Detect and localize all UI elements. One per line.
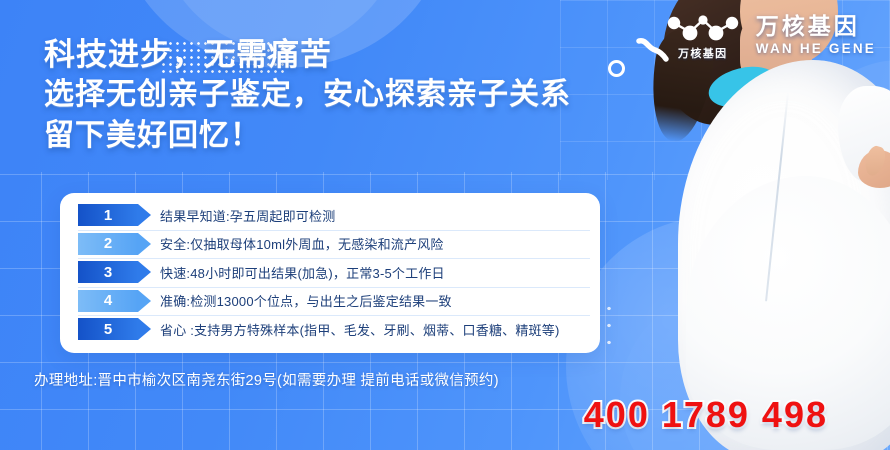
office-address: 办理地址:晋中市榆次区南尧东街29号(如需要办理 提前电话或微信预约) [34,369,499,390]
molecule-network-icon: 万核基因 [664,10,742,60]
list-item: 5 省心 :支持男方特殊样本(指甲、毛发、牙刷、烟蒂、口香糖、精斑等) [60,315,600,344]
list-item: 4 准确:检测13000个位点，与出生之后鉴定结果一致 [60,287,600,316]
feature-list-card: 1 结果早知道:孕五周起即可检测 2 安全:仅抽取母体10ml外周血，无感染和流… [60,193,600,353]
feature-badge: 1 [78,204,138,226]
brand-wordmark: 万核基因 WAN HE GENE [756,14,876,56]
headline-line-3: 留下美好回忆！ [44,115,571,156]
feature-badge: 4 [78,290,138,312]
circle-outline-icon [608,60,625,77]
logo-mark-label: 万核基因 [664,45,742,61]
list-item: 2 安全:仅抽取母体10ml外周血，无感染和流产风险 [60,230,600,259]
feature-text: 省心 :支持男方特殊样本(指甲、毛发、牙刷、烟蒂、口香糖、精斑等) [160,320,559,339]
list-item: 3 快速:48小时即可出结果(加急)，正常3-5个工作日 [60,258,600,287]
brand-logo[interactable]: 万核基因 万核基因 WAN HE GENE [664,10,876,60]
pregnant-woman-photo [590,0,890,450]
feature-text: 安全:仅抽取母体10ml外周血，无感染和流产风险 [160,234,444,253]
feature-text: 快速:48小时即可出结果(加急)，正常3-5个工作日 [160,263,445,282]
brand-name-cn: 万核基因 [756,14,876,38]
feature-text: 准确:检测13000个位点，与出生之后鉴定结果一致 [160,291,452,310]
hotline-number[interactable]: 400 1789 498 [584,394,828,436]
brand-name-en: WAN HE GENE [756,42,876,56]
headline-line-1: 科技进步，无需痛苦 [44,36,571,74]
headline-line-2: 选择无创亲子鉴定，安心探索亲子关系 [44,74,571,115]
feature-text: 结果早知道:孕五周起即可检测 [160,206,335,225]
feature-badge: 5 [78,318,138,340]
promo-banner: 万核基因 万核基因 WAN HE GENE 科技进步，无需痛苦 选择无创亲子鉴定… [0,0,890,450]
headline-block: 科技进步，无需痛苦 选择无创亲子鉴定，安心探索亲子关系 留下美好回忆！ [44,36,571,156]
list-item: 1 结果早知道:孕五周起即可检测 [60,201,600,230]
feature-badge: 2 [78,233,138,255]
feature-badge: 3 [78,261,138,283]
